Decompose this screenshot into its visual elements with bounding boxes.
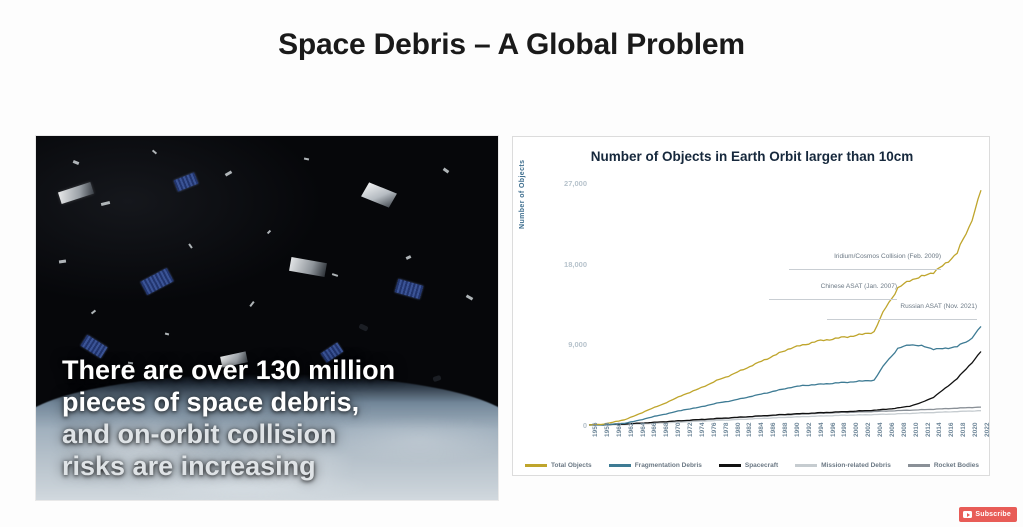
x-axis-tick: 1992 bbox=[806, 423, 813, 437]
x-axis-tick: 2022 bbox=[984, 423, 991, 437]
legend-swatch bbox=[525, 464, 547, 467]
x-axis-tick: 1984 bbox=[758, 423, 765, 437]
legend-swatch bbox=[908, 464, 930, 467]
debris-fragment bbox=[165, 332, 169, 335]
x-axis-tick: 1980 bbox=[735, 423, 742, 437]
space-debris-photo: There are over 130 million pieces of spa… bbox=[36, 136, 498, 500]
legend-item[interactable]: Total Objects bbox=[525, 462, 592, 469]
caption-line-4: risks are increasing bbox=[62, 450, 462, 482]
x-axis-tick: 2016 bbox=[948, 423, 955, 437]
chart-annotation-label: Iridium/Cosmos Collision (Feb. 2009) bbox=[834, 253, 941, 260]
x-axis-tick: 2014 bbox=[936, 423, 943, 437]
caption-line-1: There are over 130 million bbox=[62, 354, 462, 386]
x-axis-tick: 1986 bbox=[770, 423, 777, 437]
legend-item[interactable]: Spacecraft bbox=[719, 462, 778, 469]
x-axis-tick: 1974 bbox=[699, 423, 706, 437]
chart-annotation-leader bbox=[789, 269, 941, 270]
legend-label: Rocket Bodies bbox=[934, 462, 979, 469]
x-axis-tick: 2010 bbox=[913, 423, 920, 437]
x-axis-tick: 1966 bbox=[651, 423, 658, 437]
caption-line-2: pieces of space debris, bbox=[62, 386, 462, 418]
legend-item[interactable]: Rocket Bodies bbox=[908, 462, 979, 469]
x-axis-tick: 2008 bbox=[901, 423, 908, 437]
x-axis-tick: 1978 bbox=[723, 423, 730, 437]
legend-swatch bbox=[719, 464, 741, 467]
x-axis-tick: 2004 bbox=[877, 423, 884, 437]
legend-label: Mission-related Debris bbox=[821, 462, 891, 469]
legend-label: Spacecraft bbox=[745, 462, 778, 469]
legend-label: Total Objects bbox=[551, 462, 592, 469]
legend-item[interactable]: Fragmentation Debris bbox=[609, 462, 702, 469]
x-axis-tick: 1996 bbox=[830, 423, 837, 437]
subscribe-label: Subscribe bbox=[975, 511, 1011, 518]
chart-annotation-label: Russian ASAT (Nov. 2021) bbox=[900, 303, 977, 310]
x-axis-tick: 2000 bbox=[853, 423, 860, 437]
caption-line-3: and on-orbit collision bbox=[62, 418, 462, 450]
legend-label: Fragmentation Debris bbox=[635, 462, 702, 469]
x-axis-tick: 1968 bbox=[663, 423, 670, 437]
x-axis-tick: 2012 bbox=[925, 423, 932, 437]
x-axis-tick: 1964 bbox=[640, 423, 647, 437]
chart-annotation-label: Chinese ASAT (Jan. 2007) bbox=[821, 283, 897, 290]
x-axis-tick: 1958 bbox=[604, 423, 611, 437]
x-axis-tick: 1956 bbox=[592, 423, 599, 437]
x-axis-tick: 1994 bbox=[818, 423, 825, 437]
x-axis-tick: 1970 bbox=[675, 423, 682, 437]
subscribe-button[interactable]: Subscribe bbox=[959, 507, 1017, 522]
debris-fragment bbox=[59, 259, 66, 263]
x-axis-tick: 2020 bbox=[972, 423, 979, 437]
x-axis-tick: 2018 bbox=[960, 423, 967, 437]
chart-title: Number of Objects in Earth Orbit larger … bbox=[513, 149, 991, 164]
page-title: Space Debris – A Global Problem bbox=[0, 28, 1023, 62]
presentation-slide: Space Debris – A Global Problem bbox=[0, 0, 1023, 527]
x-axis-tick: 2006 bbox=[889, 423, 896, 437]
photo-caption: There are over 130 million pieces of spa… bbox=[62, 354, 462, 483]
legend-swatch bbox=[795, 464, 817, 467]
x-axis-tick: 1962 bbox=[628, 423, 635, 437]
x-axis-tick: 1988 bbox=[782, 423, 789, 437]
x-axis-tick: 1976 bbox=[711, 423, 718, 437]
x-axis-tick: 2002 bbox=[865, 423, 872, 437]
youtube-play-icon bbox=[963, 511, 972, 518]
x-axis-tick: 1972 bbox=[687, 423, 694, 437]
chart-annotation-leader bbox=[769, 299, 897, 300]
chart-legend: Total ObjectsFragmentation DebrisSpacecr… bbox=[513, 462, 991, 469]
legend-swatch bbox=[609, 464, 631, 467]
x-axis-tick: 1960 bbox=[616, 423, 623, 437]
x-axis-tick: 1982 bbox=[746, 423, 753, 437]
x-axis-tick: 1998 bbox=[841, 423, 848, 437]
space-objects-chart: Number of Objects in Earth Orbit larger … bbox=[512, 136, 990, 476]
legend-item[interactable]: Mission-related Debris bbox=[795, 462, 891, 469]
chart-annotation-leader bbox=[827, 319, 977, 320]
x-axis-tick: 1990 bbox=[794, 423, 801, 437]
